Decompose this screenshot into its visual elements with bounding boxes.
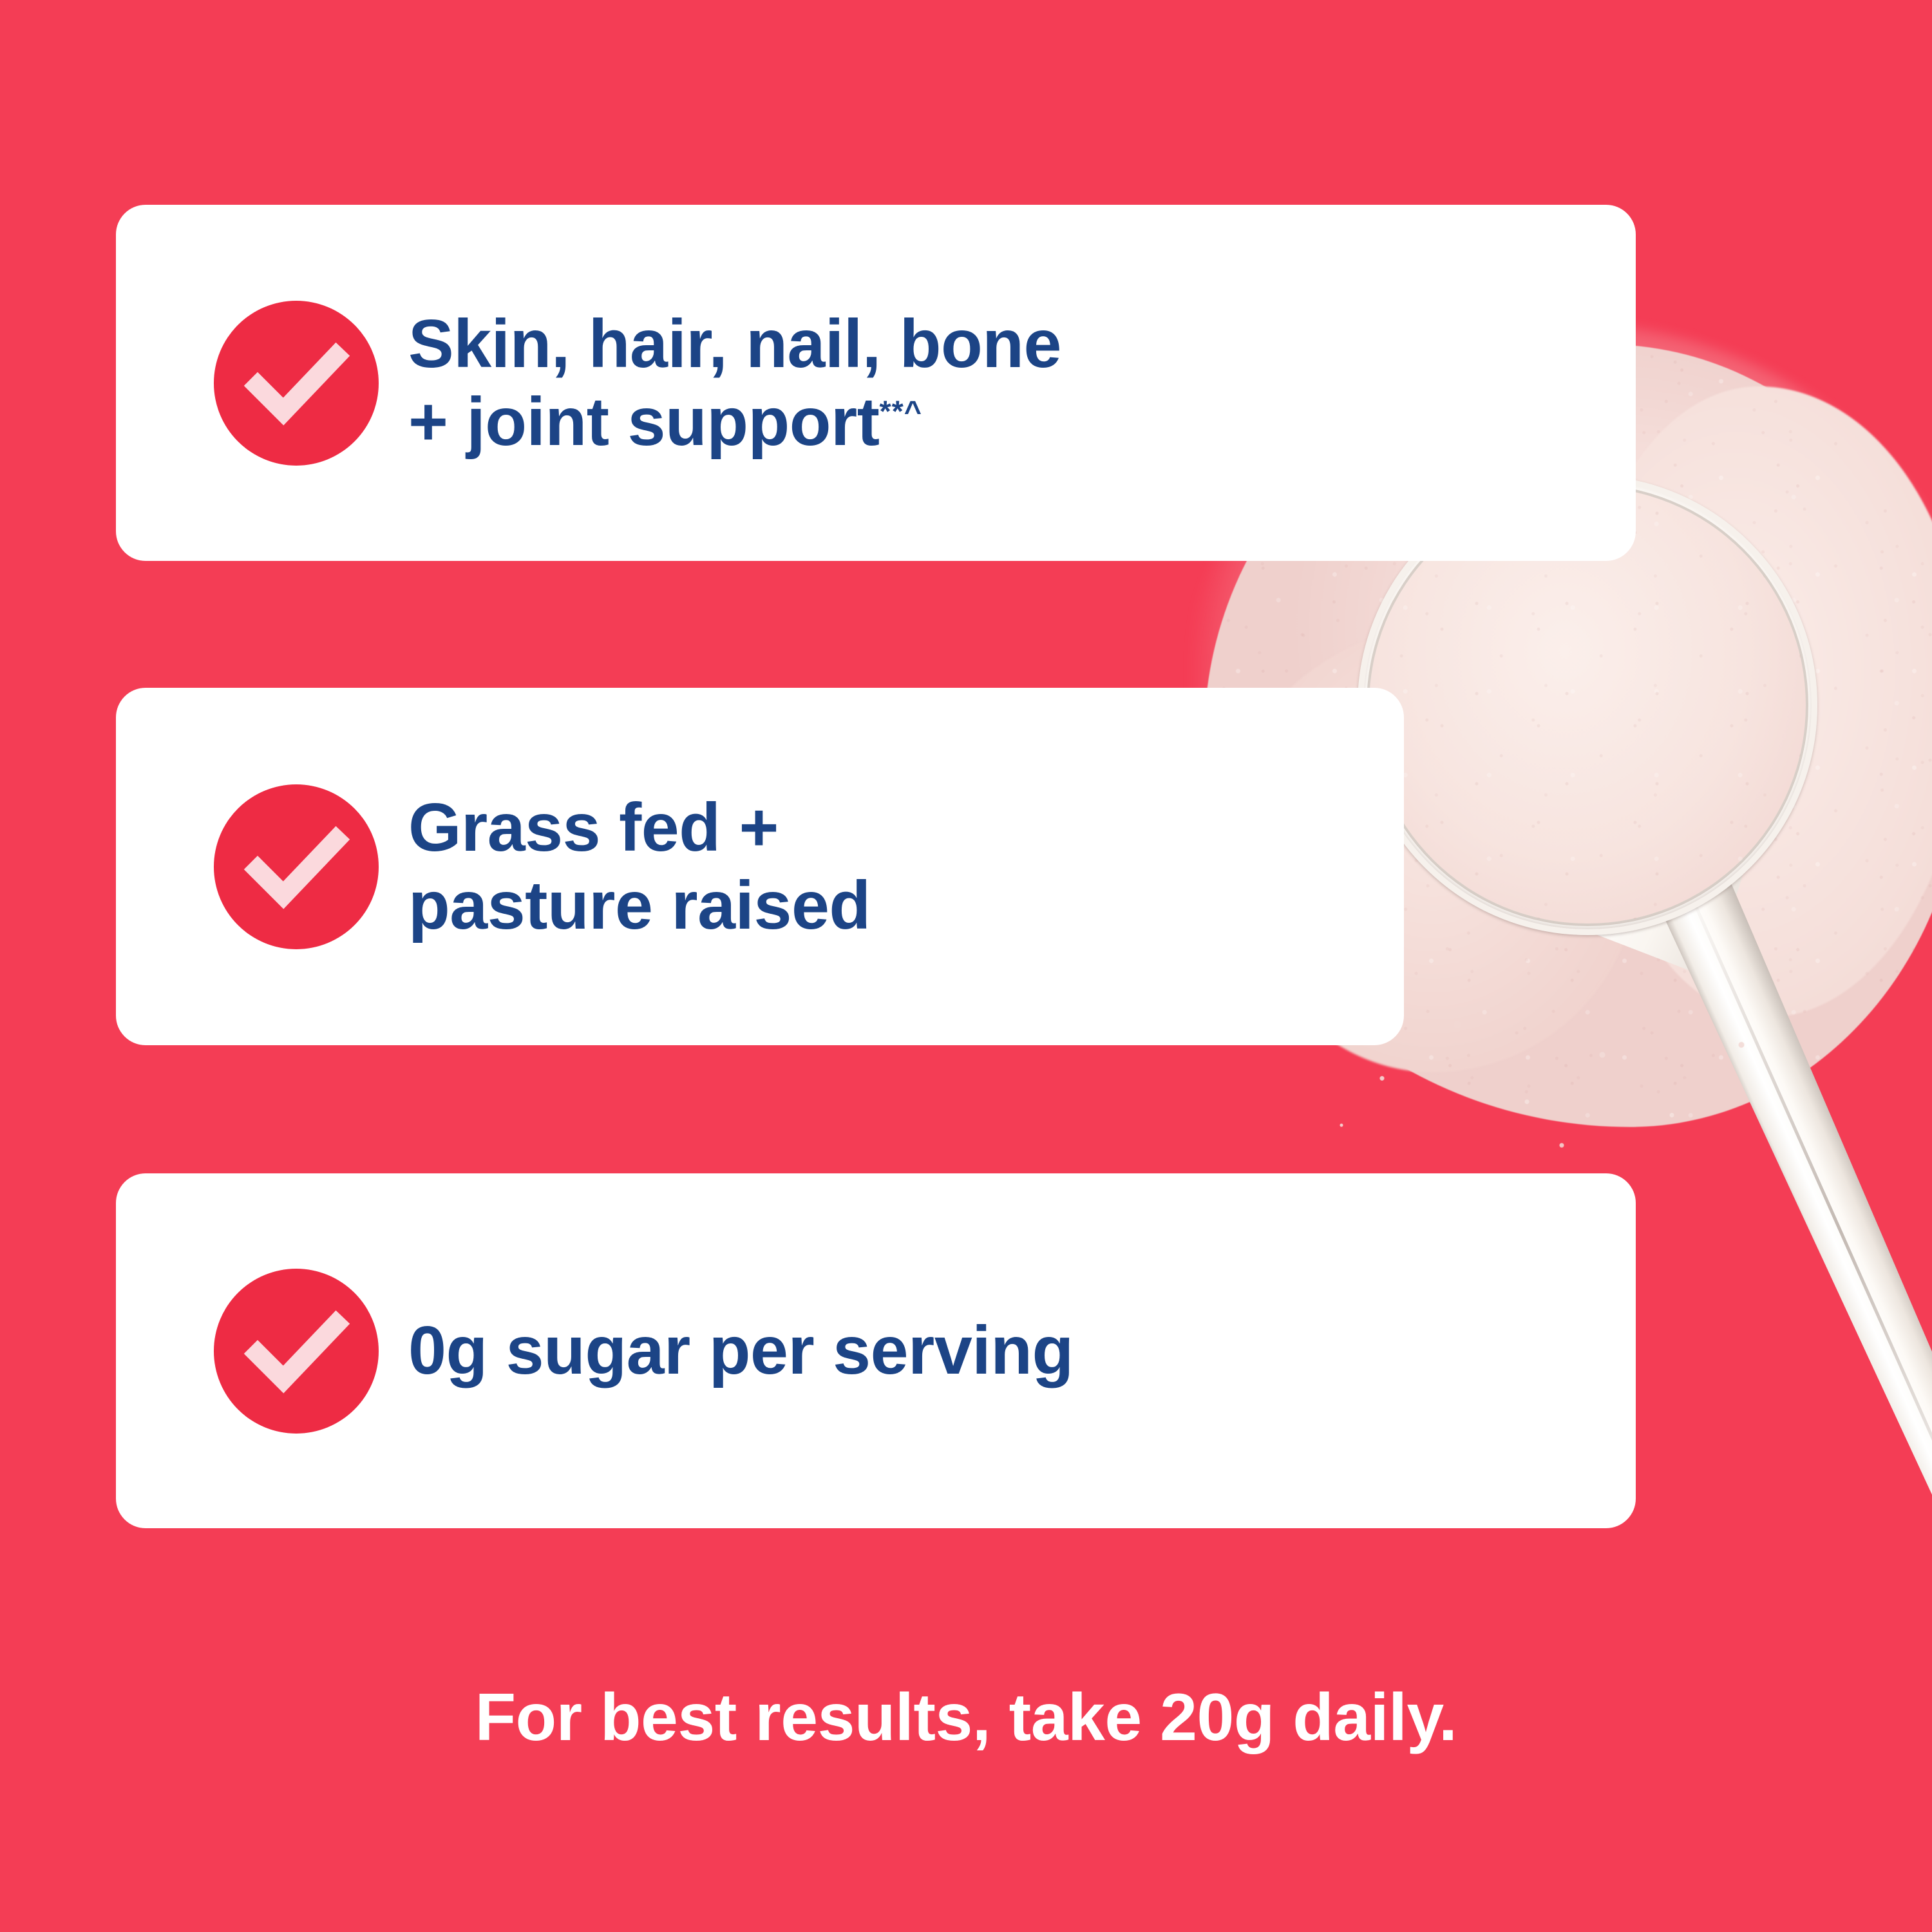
check-icon (214, 1269, 379, 1434)
benefit-card: Skin, hair, nail, bone+ joint support**^ (116, 205, 1636, 561)
benefit-card: Grass fed +pasture raised (116, 688, 1404, 1045)
benefit-text: Skin, hair, nail, bone+ joint support**^ (408, 305, 1061, 461)
benefit-line-1: 0g sugar per serving (408, 1312, 1074, 1388)
benefit-card: 0g sugar per serving (116, 1173, 1636, 1528)
benefit-text: 0g sugar per serving (408, 1312, 1074, 1390)
benefit-text: Grass fed +pasture raised (408, 789, 871, 945)
benefit-line-2: + joint support (408, 384, 880, 460)
check-icon (214, 301, 379, 466)
benefit-line-1: Skin, hair, nail, bone (408, 306, 1061, 382)
check-icon (214, 784, 379, 949)
benefit-line-2: pasture raised (408, 867, 871, 943)
scoop-handle-seam (1682, 878, 1932, 1574)
scoop-neck (1591, 857, 1745, 979)
scoop-handle (1652, 860, 1932, 1597)
footer-tagline: For best results, take 20g daily. (0, 1681, 1932, 1754)
benefit-superscript: **^ (880, 394, 923, 428)
benefit-line-1: Grass fed + (408, 790, 779, 866)
promo-poster: Skin, hair, nail, bone+ joint support**^… (0, 0, 1932, 1932)
